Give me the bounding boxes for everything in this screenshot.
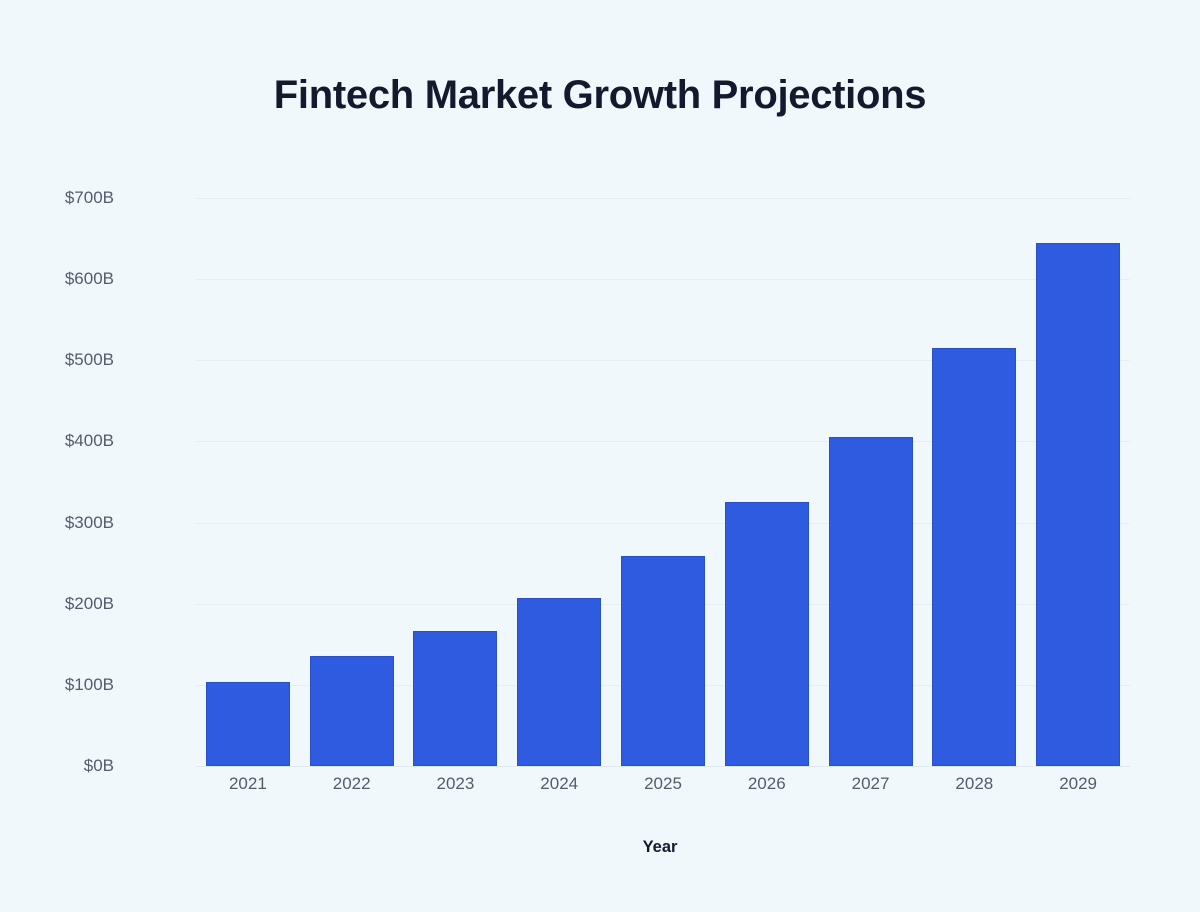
- bar-slot: [196, 198, 300, 766]
- bar-slot: [819, 198, 923, 766]
- y-tick-label: $200B: [0, 594, 114, 614]
- bar-2028[interactable]: [932, 348, 1016, 766]
- y-tick-label: $0B: [0, 756, 114, 776]
- bar-slot: [1026, 198, 1130, 766]
- y-tick-label: $300B: [0, 513, 114, 533]
- x-tick-label: 2029: [1008, 774, 1148, 794]
- bar-2022[interactable]: [310, 656, 394, 766]
- bar-2023[interactable]: [413, 631, 497, 767]
- bar-slot: [404, 198, 508, 766]
- plot-area: $0B$100B$200B$300B$400B$500B$600B$700B 2…: [196, 198, 1130, 766]
- y-tick-label: $500B: [0, 350, 114, 370]
- y-tick-label: $100B: [0, 675, 114, 695]
- y-tick-label: $700B: [0, 188, 114, 208]
- bar-2027[interactable]: [829, 437, 913, 766]
- bar-2024[interactable]: [517, 598, 601, 766]
- y-tick-label: $600B: [0, 269, 114, 289]
- x-axis-label: Year: [190, 838, 1130, 857]
- bar-2029[interactable]: [1036, 243, 1120, 766]
- bar-slot: [611, 198, 715, 766]
- bar-slot: [507, 198, 611, 766]
- gridline: [196, 766, 1130, 767]
- bar-series: [196, 198, 1130, 766]
- y-tick-label: $400B: [0, 431, 114, 451]
- bar-2025[interactable]: [621, 556, 705, 766]
- bar-2021[interactable]: [206, 682, 290, 766]
- bar-slot: [922, 198, 1026, 766]
- chart-figure: Fintech Market Growth Projections Market…: [0, 0, 1200, 912]
- chart-title: Fintech Market Growth Projections: [0, 72, 1200, 118]
- bar-2026[interactable]: [725, 502, 809, 766]
- bar-slot: [715, 198, 819, 766]
- bar-slot: [300, 198, 404, 766]
